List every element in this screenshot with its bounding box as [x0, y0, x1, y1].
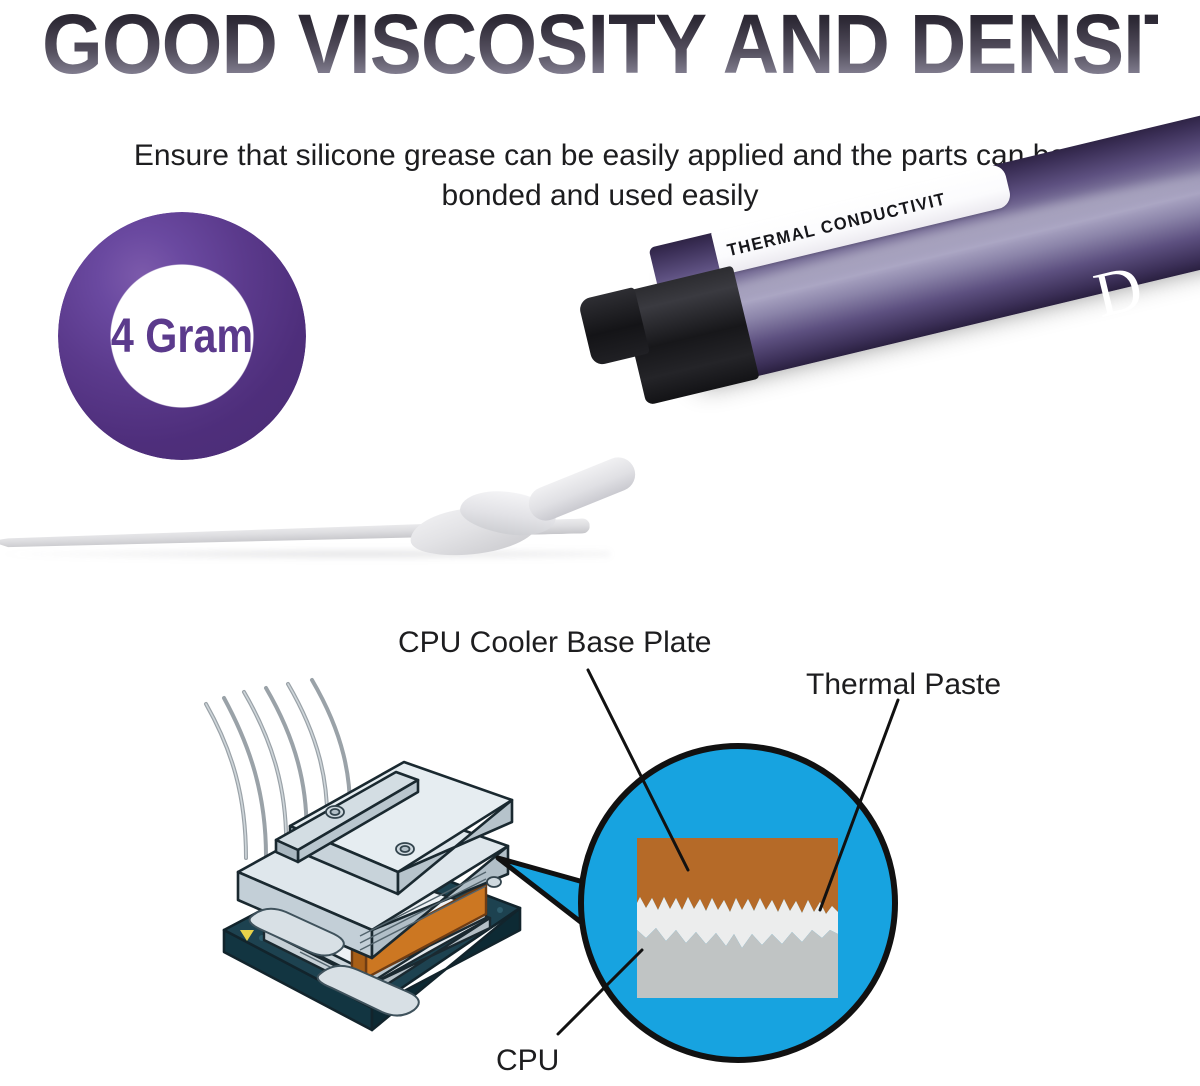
weight-badge-label: 4 Gram: [75, 212, 288, 460]
page-title: GOOD VISCOSITY AND DENSITY: [42, 0, 1158, 92]
infographic-root: GOOD VISCOSITY AND DENSITY GOOD VISCOSIT…: [0, 0, 1200, 1086]
grease-bead-neck: [524, 452, 641, 525]
grease-bead-shadow: [0, 548, 610, 560]
weight-badge: 4 Gram: [58, 212, 306, 460]
thermal-paste-tube: D THERMAL CONDUCTIVIT: [600, 200, 1200, 560]
interface-cross-section: [637, 838, 838, 998]
grease-bead: [0, 486, 650, 566]
cpu-thermal-paste-diagram: [0, 600, 1200, 1086]
